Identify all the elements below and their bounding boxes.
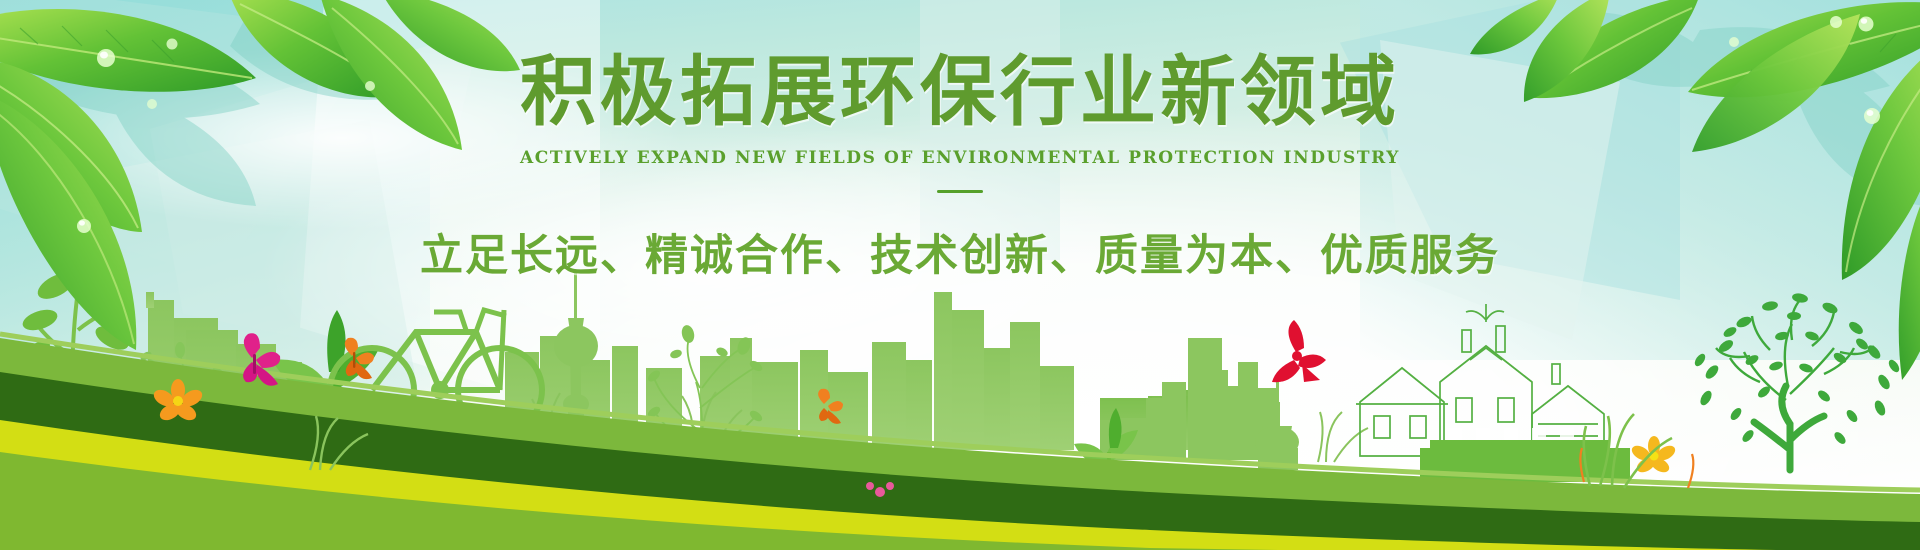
leaf-decoration-layer <box>0 0 1920 550</box>
leaves-cluster-top-right <box>1470 0 1920 380</box>
eco-banner: 积极拓展环保行业新领域 ACTIVELY EXPAND NEW FIELDS O… <box>0 0 1920 550</box>
leaves-cluster-top-left <box>0 0 520 350</box>
